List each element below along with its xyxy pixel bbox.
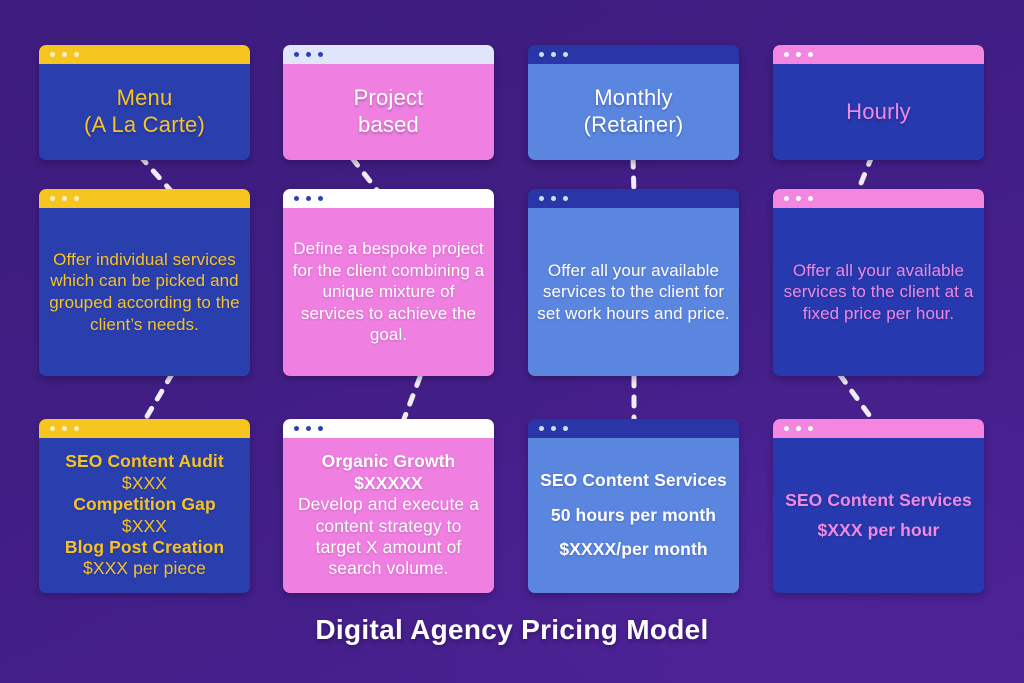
card-body: Offer all your available services to the… [773,208,984,376]
card-titlebar [283,419,494,438]
card-header-project-based[interactable]: Project based [283,45,494,160]
window-dot-2 [306,426,311,431]
window-dot-2 [551,52,556,57]
window-dot-3 [318,52,323,57]
connector-col1-row2-row3 [146,374,172,418]
window-dot-1 [784,52,789,57]
window-dot-3 [563,426,568,431]
window-dot-2 [62,196,67,201]
example-line: SEO Content Services [782,490,975,511]
card-description-hourly[interactable]: Offer all your available services to the… [773,189,984,376]
connector-col4-row1-row2 [857,156,872,193]
window-dot-2 [796,196,801,201]
card-description-project-based[interactable]: Define a bespoke project for the client … [283,189,494,376]
window-dot-2 [62,426,67,431]
card-description-monthly-retainer[interactable]: Offer all your available services to the… [528,189,739,376]
window-dot-3 [808,52,813,57]
window-dot-3 [808,426,813,431]
connector-col2-row2-row3 [404,377,420,419]
card-body: Hourly [773,64,984,160]
description-text: Offer all your available services to the… [537,260,730,325]
card-body: SEO Content Services 50 hours per month … [528,438,739,593]
card-body: Monthly (Retainer) [528,64,739,160]
card-titlebar [773,419,984,438]
window-dot-1 [539,196,544,201]
example-line: $XXX per piece [48,558,241,579]
card-header-hourly[interactable]: Hourly [773,45,984,160]
window-dot-2 [62,52,67,57]
card-body: SEO Content Audit $XXX Competition Gap $… [39,438,250,593]
card-titlebar [773,45,984,64]
card-titlebar [773,189,984,208]
window-dot-3 [74,52,79,57]
window-dot-2 [796,52,801,57]
window-dot-1 [294,52,299,57]
description-text: Define a bespoke project for the client … [292,238,485,346]
example-line: $XXXXX [292,473,485,494]
card-body: Offer individual services which can be p… [39,208,250,376]
card-body: Offer all your available services to the… [528,208,739,376]
card-titlebar [283,45,494,64]
card-titlebar [283,189,494,208]
window-dot-3 [563,196,568,201]
header-line-1: Menu [48,85,241,112]
header-line-1: Monthly [537,85,730,112]
card-body: SEO Content Services $XXX per hour [773,438,984,593]
description-text: Offer all your available services to the… [782,260,975,325]
window-dot-1 [539,426,544,431]
card-body: Menu (A La Carte) [39,64,250,160]
header-line-1: Project [292,85,485,112]
example-line: $XXXX/per month [537,539,730,560]
window-dot-2 [306,196,311,201]
card-titlebar [39,45,250,64]
card-body: Define a bespoke project for the client … [283,208,494,376]
example-line: $XXX [48,473,241,494]
card-example-monthly-retainer[interactable]: SEO Content Services 50 hours per month … [528,419,739,593]
window-dot-1 [50,52,55,57]
example-line: $XXX [48,516,241,537]
window-dot-2 [306,52,311,57]
window-dot-1 [50,196,55,201]
card-titlebar [528,189,739,208]
connector-col1-row1-row2 [140,156,172,192]
header-line-2: based [292,112,485,139]
header-line-2: (Retainer) [537,112,730,139]
example-line: Blog Post Creation [48,537,241,558]
card-titlebar [528,45,739,64]
example-line: SEO Content Services [537,470,730,491]
pricing-model-board: Menu (A La Carte) Project based Monthly … [0,0,1024,683]
card-body: Organic Growth $XXXXX Develop and execut… [283,438,494,593]
window-dot-1 [294,426,299,431]
example-line: Develop and execute a content strategy t… [292,494,485,579]
window-dot-3 [318,426,323,431]
window-dot-3 [563,52,568,57]
card-example-menu-a-la-carte[interactable]: SEO Content Audit $XXX Competition Gap $… [39,419,250,593]
header-line-2: (A La Carte) [48,112,241,139]
window-dot-1 [784,426,789,431]
page-title: Digital Agency Pricing Model [0,614,1024,646]
window-dot-2 [551,426,556,431]
card-titlebar [528,419,739,438]
card-description-menu-a-la-carte[interactable]: Offer individual services which can be p… [39,189,250,376]
example-line: 50 hours per month [537,505,730,526]
example-line: Competition Gap [48,494,241,515]
header-line-1: Hourly [782,99,975,126]
window-dot-2 [796,426,801,431]
card-titlebar [39,189,250,208]
card-header-monthly-retainer[interactable]: Monthly (Retainer) [528,45,739,160]
example-line: $XXX per hour [782,520,975,541]
card-example-hourly[interactable]: SEO Content Services $XXX per hour [773,419,984,593]
window-dot-3 [74,196,79,201]
window-dot-1 [294,196,299,201]
window-dot-2 [551,196,556,201]
window-dot-3 [808,196,813,201]
window-dot-1 [50,426,55,431]
window-dot-3 [318,196,323,201]
window-dot-1 [784,196,789,201]
card-body: Project based [283,64,494,160]
card-header-menu-a-la-carte[interactable]: Menu (A La Carte) [39,45,250,160]
window-dot-1 [539,52,544,57]
description-text: Offer individual services which can be p… [48,249,241,335]
window-dot-3 [74,426,79,431]
card-example-project-based[interactable]: Organic Growth $XXXXX Develop and execut… [283,419,494,593]
example-line: SEO Content Audit [48,451,241,472]
connector-col4-row2-row3 [840,375,872,419]
card-titlebar [39,419,250,438]
example-line: Organic Growth [292,451,485,472]
